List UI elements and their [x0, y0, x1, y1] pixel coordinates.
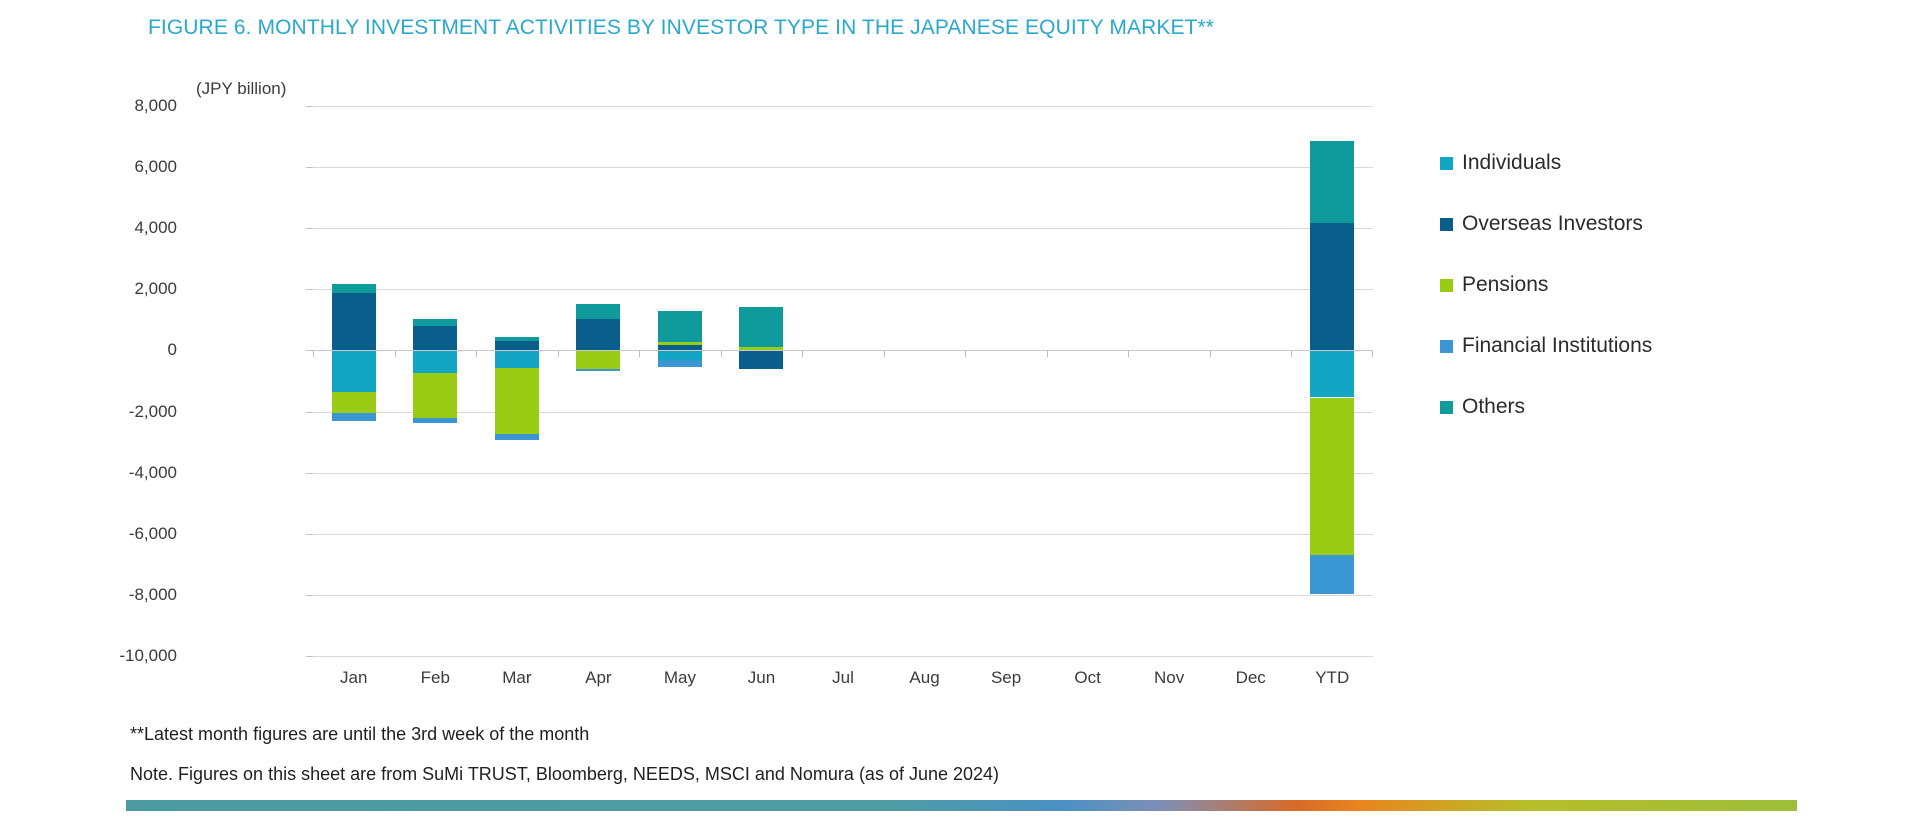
legend-item-label: Individuals	[1462, 152, 1561, 174]
x-axis-tick-mark	[1047, 350, 1048, 357]
x-axis-tick-label-nov: Nov	[1154, 668, 1184, 688]
y-axis-tick-mark	[306, 228, 313, 229]
bar-segment	[413, 418, 457, 423]
x-axis-tick-mark	[965, 350, 966, 357]
bar-segment	[495, 368, 539, 435]
bar-segment	[576, 304, 620, 319]
y-axis-tick-label: -10,000	[67, 646, 177, 666]
x-axis-tick-label-dec: Dec	[1236, 668, 1266, 688]
legend-item-overseas-investors[interactable]: Overseas Investors	[1440, 213, 1820, 274]
x-axis-tick-mark	[802, 350, 803, 357]
gridline	[313, 167, 1373, 168]
bar-segment	[332, 284, 376, 293]
y-axis-tick-mark	[306, 412, 313, 413]
gridline	[313, 106, 1373, 107]
axis-unit-label: (JPY billion)	[196, 79, 286, 99]
bar-segment	[1310, 350, 1354, 397]
gridline	[313, 289, 1373, 290]
x-axis-tick-label-feb: Feb	[421, 668, 450, 688]
y-axis-tick-label: -8,000	[67, 585, 177, 605]
x-axis-tick-mark	[313, 350, 314, 357]
y-axis-tick-mark	[306, 595, 313, 596]
chart-legend: IndividualsOverseas InvestorsPensionsFin…	[1440, 152, 1820, 457]
page-title: FIGURE 6. MONTHLY INVESTMENT ACTIVITIES …	[148, 16, 1214, 40]
bar-segment	[739, 350, 783, 368]
y-axis-tick-mark	[306, 106, 313, 107]
gridline	[313, 473, 1373, 474]
x-axis-tick-mark	[884, 350, 885, 357]
bar-segment	[332, 293, 376, 350]
x-axis-tick-label-apr: Apr	[585, 668, 611, 688]
bar-segment	[739, 307, 783, 347]
y-axis-tick-mark	[306, 473, 313, 474]
gridline	[313, 534, 1373, 535]
y-axis-tick-label: 2,000	[67, 279, 177, 299]
x-axis-tick-label-ytd: YTD	[1315, 668, 1349, 688]
decorative-gradient-bar	[126, 800, 1797, 811]
gridline	[313, 412, 1373, 413]
zero-baseline	[313, 350, 1373, 351]
y-axis-tick-label: 6,000	[67, 157, 177, 177]
legend-swatch-icon	[1440, 157, 1453, 170]
bar-segment	[1310, 223, 1354, 351]
x-axis-tick-mark	[395, 350, 396, 357]
plot-region	[313, 106, 1373, 656]
y-axis-tick-label: -6,000	[67, 524, 177, 544]
x-axis-tick-label-jan: Jan	[340, 668, 367, 688]
bar-segment	[495, 337, 539, 340]
legend-swatch-icon	[1440, 401, 1453, 414]
legend-item-label: Others	[1462, 396, 1525, 418]
bar-segment	[576, 319, 620, 351]
bar-segment	[495, 434, 539, 440]
bar-segment	[658, 311, 702, 342]
bar-segment	[495, 341, 539, 351]
gridline	[313, 595, 1373, 596]
bar-segment	[413, 319, 457, 326]
x-axis-tick-mark	[1128, 350, 1129, 357]
legend-item-others[interactable]: Others	[1440, 396, 1820, 457]
legend-item-financial-institutions[interactable]: Financial Institutions	[1440, 335, 1820, 396]
legend-item-label: Overseas Investors	[1462, 213, 1643, 235]
y-axis-tick-label: -4,000	[67, 463, 177, 483]
x-axis-tick-label-may: May	[664, 668, 696, 688]
y-axis-tick-label: 8,000	[67, 96, 177, 116]
x-axis-tick-label-jul: Jul	[832, 668, 854, 688]
x-axis-tick-mark	[1291, 350, 1292, 357]
x-axis-tick-mark	[1210, 350, 1211, 357]
legend-item-label: Financial Institutions	[1462, 335, 1652, 357]
bar-segment	[1310, 555, 1354, 594]
y-axis-tick-label: 0	[67, 340, 177, 360]
legend-swatch-icon	[1440, 218, 1453, 231]
y-axis-tick-mark	[306, 289, 313, 290]
bar-segment	[495, 350, 539, 367]
bar-segment	[413, 373, 457, 419]
x-axis-tick-mark	[476, 350, 477, 357]
y-axis-tick-label: -2,000	[67, 402, 177, 422]
bar-segment	[1310, 141, 1354, 223]
bar-segment	[658, 342, 702, 345]
bar-segment	[413, 350, 457, 372]
y-axis-tick-mark	[306, 534, 313, 535]
bar-segment	[332, 392, 376, 413]
bar-segment	[658, 350, 702, 359]
legend-swatch-icon	[1440, 340, 1453, 353]
gridline	[313, 228, 1373, 229]
bar-segment	[332, 350, 376, 391]
bar-segment	[332, 413, 376, 421]
x-axis-tick-label-aug: Aug	[909, 668, 939, 688]
footnote-source-note: Note. Figures on this sheet are from SuM…	[130, 764, 999, 785]
x-axis-tick-mark	[558, 350, 559, 357]
legend-swatch-icon	[1440, 279, 1453, 292]
x-axis-tick-mark	[1372, 350, 1373, 357]
legend-item-individuals[interactable]: Individuals	[1440, 152, 1820, 213]
figure-container: FIGURE 6. MONTHLY INVESTMENT ACTIVITIES …	[0, 0, 1920, 830]
chart-area: 8,0006,0004,0002,0000-2,000-4,000-6,000-…	[190, 106, 1390, 656]
x-axis-tick-label-sep: Sep	[991, 668, 1021, 688]
y-axis-tick-mark	[306, 167, 313, 168]
gridline	[313, 656, 1373, 657]
y-axis-tick-label: 4,000	[67, 218, 177, 238]
bar-segment	[576, 350, 620, 369]
x-axis-tick-mark	[721, 350, 722, 357]
x-axis-tick-mark	[639, 350, 640, 357]
x-axis-tick-label-jun: Jun	[748, 668, 775, 688]
bar-segment	[658, 360, 702, 367]
bar-segment	[576, 369, 620, 371]
legend-item-pensions[interactable]: Pensions	[1440, 274, 1820, 335]
footnote-latest-month: **Latest month figures are until the 3rd…	[130, 724, 589, 745]
x-axis-tick-label-oct: Oct	[1074, 668, 1100, 688]
legend-item-label: Pensions	[1462, 274, 1548, 296]
bar-segment	[1310, 398, 1354, 555]
x-axis-tick-label-mar: Mar	[502, 668, 531, 688]
bar-segment	[413, 326, 457, 350]
y-axis-tick-mark	[306, 656, 313, 657]
y-axis-tick-mark	[306, 350, 313, 351]
